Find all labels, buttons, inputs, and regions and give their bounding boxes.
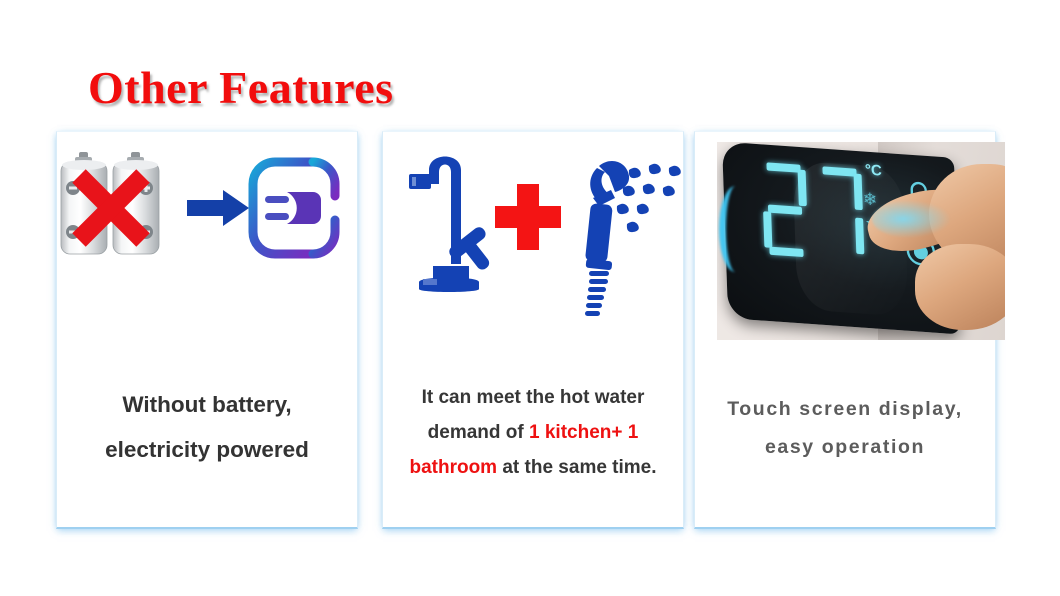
kitchen-bathroom-figure <box>383 132 683 368</box>
caption-line-1: Touch screen display, <box>701 390 989 428</box>
plug-body-icon <box>265 192 321 224</box>
feature-card-kitchen-bathroom: It can meet the hot water demand of 1 ki… <box>382 131 684 529</box>
kitchen-bathroom-caption: It can meet the hot water demand of 1 ki… <box>389 380 677 485</box>
faucet-icon <box>409 157 503 293</box>
no-battery-illustration <box>57 132 359 368</box>
slide-root: Other Features <box>0 0 1060 596</box>
caption-line-1: Without battery, <box>63 382 351 427</box>
seven-segment-digit-2 <box>761 162 808 257</box>
red-plus-icon <box>495 184 561 250</box>
seven-segment-digit-7 <box>818 166 865 261</box>
touch-screen-caption: Touch screen display, easy operation <box>701 390 989 466</box>
feature-card-touch-screen: °C ❄ ★ <box>694 131 996 529</box>
power-plug-icon <box>253 162 335 254</box>
caption-line-2: easy operation <box>701 428 989 466</box>
finger-touch-glow <box>872 200 950 238</box>
caption-line-2: electricity powered <box>63 427 351 472</box>
feature-card-no-battery: Without battery, electricity powered <box>56 131 358 529</box>
feature-card-row: Without battery, electricity powered <box>0 131 1060 531</box>
shower-head-icon <box>585 161 629 316</box>
caption-part-plain-2: at the same time. <box>497 457 656 478</box>
no-battery-caption: Without battery, electricity powered <box>63 382 351 472</box>
temperature-readout <box>761 162 873 262</box>
blue-arrow-icon <box>187 190 249 226</box>
no-battery-figure <box>57 132 357 368</box>
shower-hose-icon <box>585 271 609 316</box>
fingertip <box>867 148 1005 338</box>
page-title: Other Features <box>88 62 394 114</box>
touch-panel-photo: °C ❄ ★ <box>717 142 1005 340</box>
panel-edge-glow <box>719 186 752 272</box>
touch-screen-figure: °C ❄ ★ <box>695 132 995 368</box>
faucet-shower-illustration <box>383 132 685 368</box>
